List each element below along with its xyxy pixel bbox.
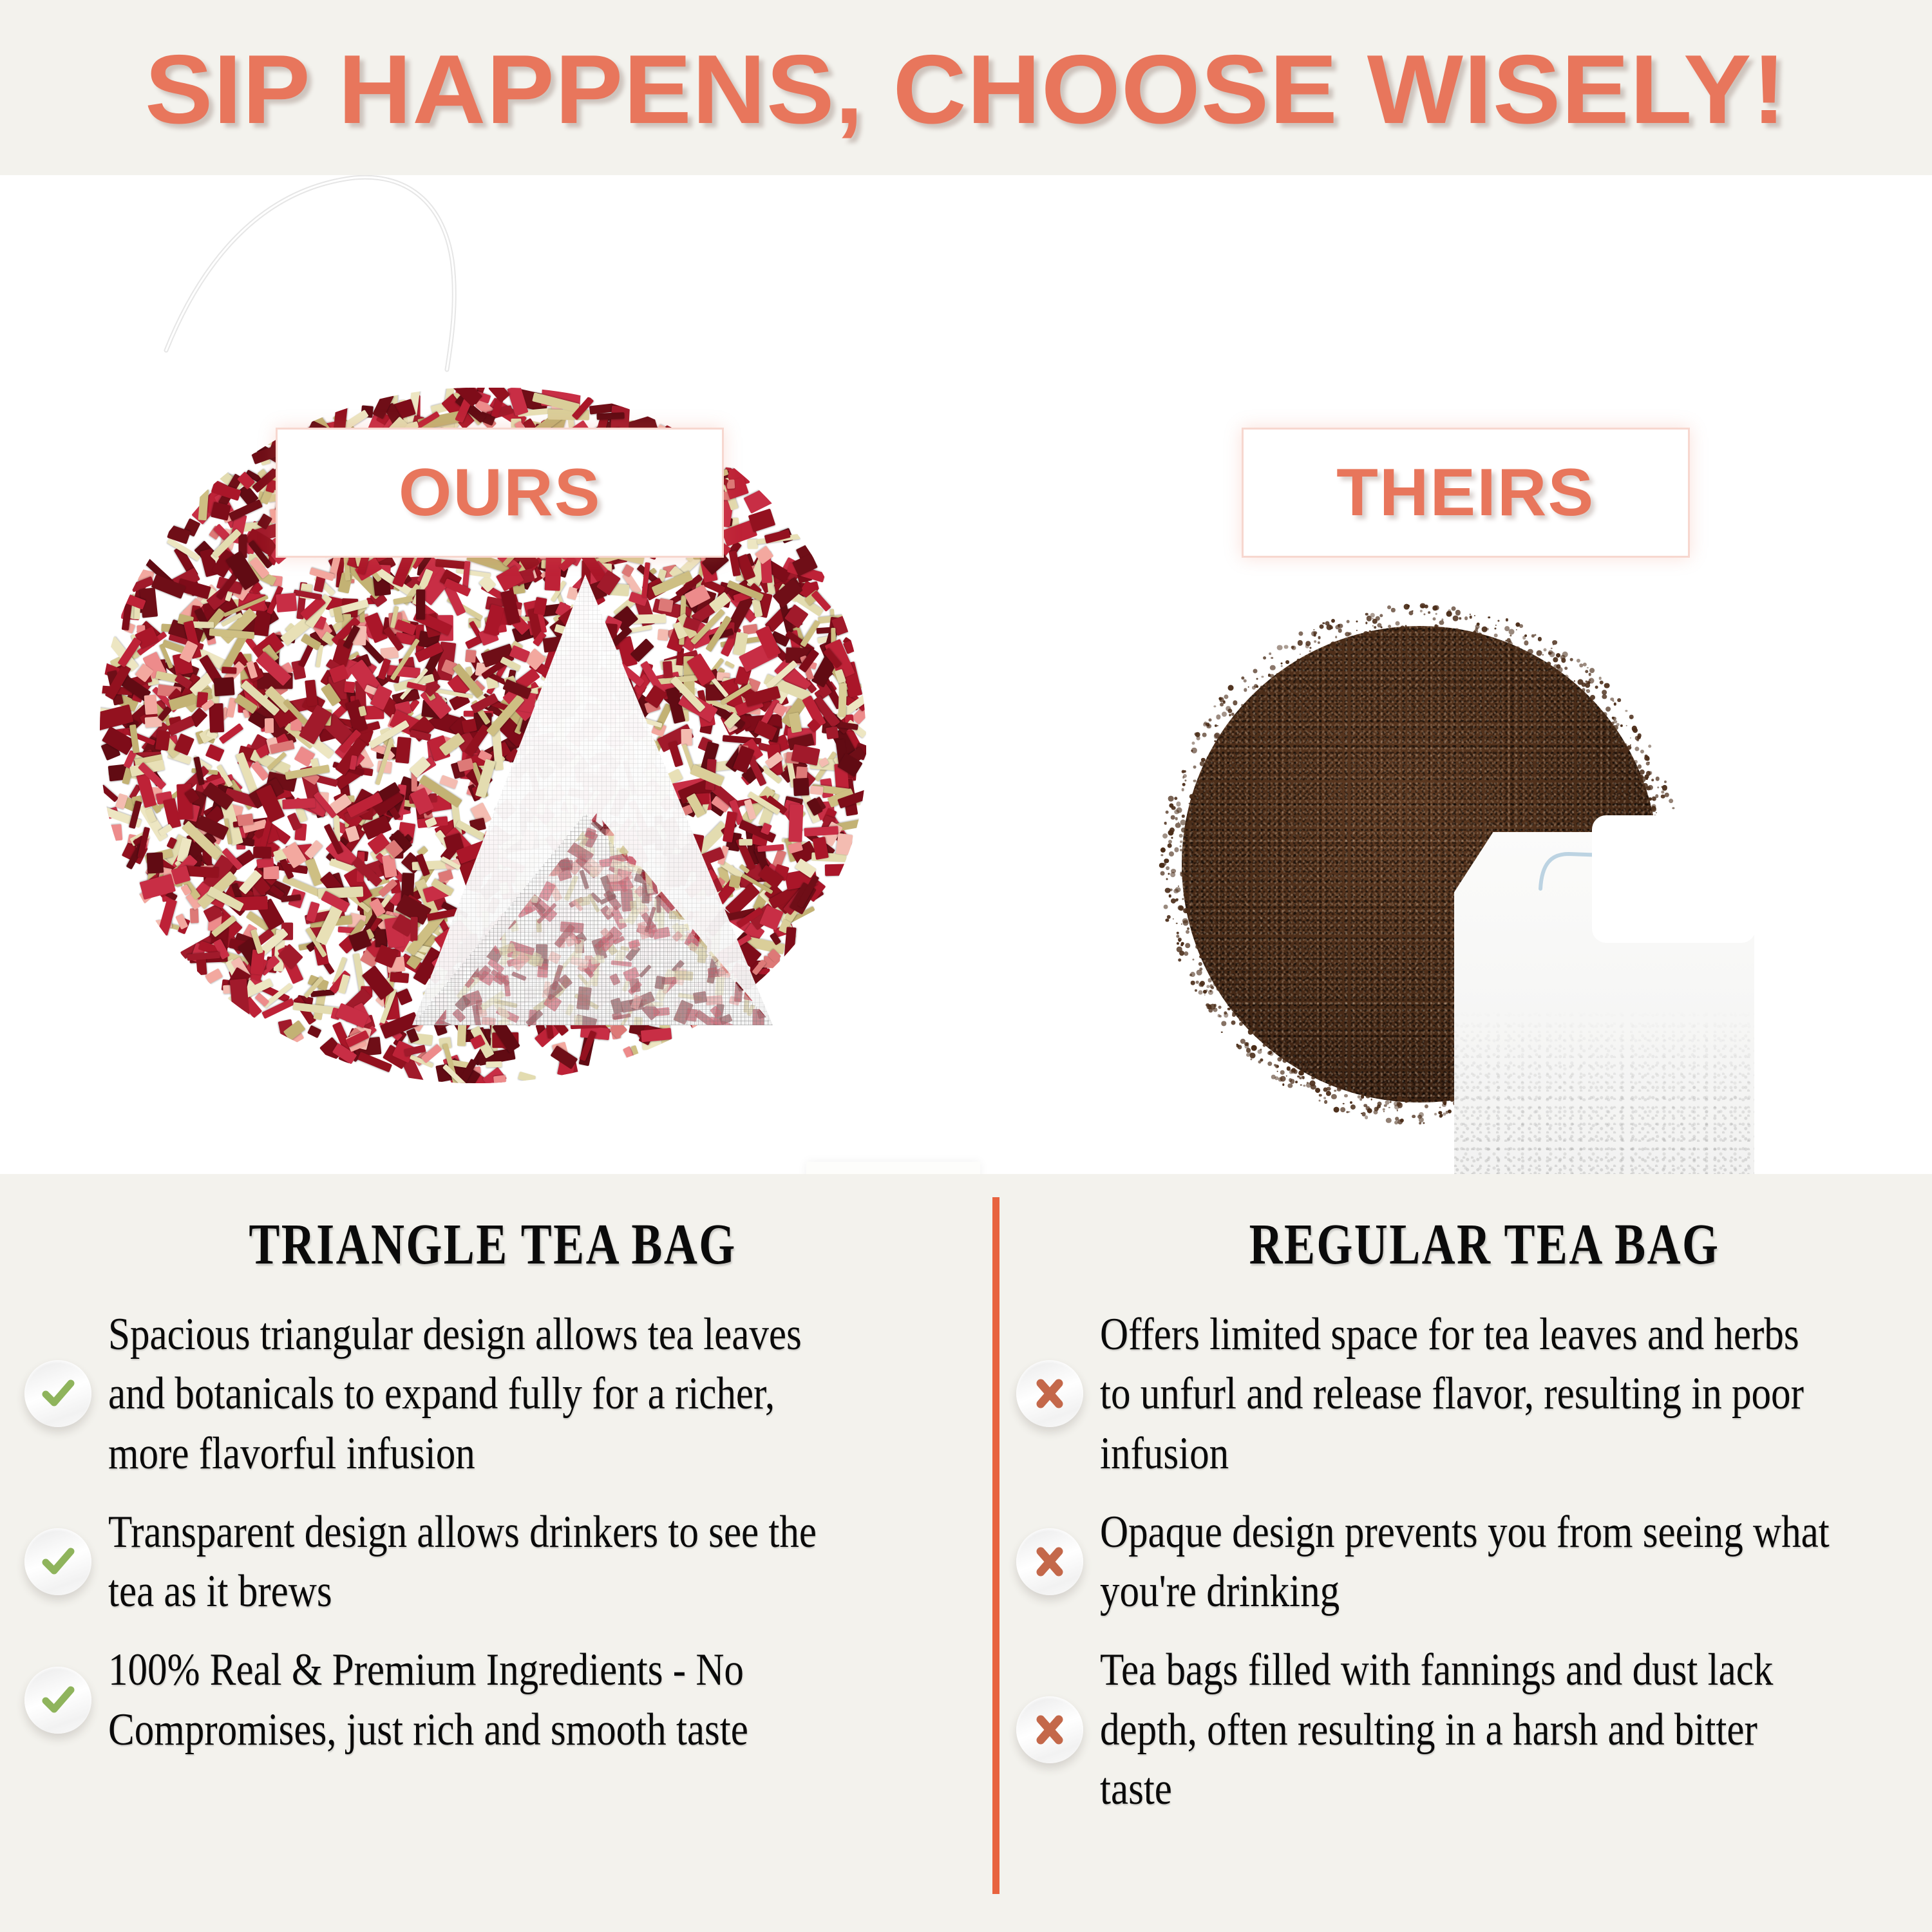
list-item-label: Transparent design allows drinkers to se… xyxy=(108,1502,846,1622)
green-check-icon xyxy=(24,1667,91,1734)
drawback-list-theirs: Offers limited space for tea leaves and … xyxy=(1011,1305,1932,1819)
triangle-tea-bag-image xyxy=(412,574,773,1025)
label-ours-text: OURS xyxy=(399,455,601,531)
list-item-label: Spacious triangular design allows tea le… xyxy=(108,1305,846,1483)
page-title: SIP HAPPENS, CHOOSE WISELY! xyxy=(145,41,1786,138)
list-item: Transparent design allows drinkers to se… xyxy=(19,1502,966,1622)
list-item: Offers limited space for tea leaves and … xyxy=(1011,1305,1932,1483)
blank-tea-bag-tag xyxy=(1592,815,1756,943)
list-item: Tea bags filled with fannings and dust l… xyxy=(1011,1640,1932,1819)
pyramid-bag-mesh-texture xyxy=(412,574,773,1025)
red-cross-icon xyxy=(1016,1360,1083,1427)
column-theirs: REGULAR TEA BAG Offers limited space for… xyxy=(1011,1174,1932,1838)
comparison-details-section: TRIANGLE TEA BAG Spacious triangular des… xyxy=(0,1174,1932,1932)
red-cross-icon xyxy=(1016,1528,1083,1595)
list-item: Spacious triangular design allows tea le… xyxy=(19,1305,966,1483)
label-theirs-text: THEIRS xyxy=(1336,455,1595,531)
tea-bag-string xyxy=(161,175,470,376)
list-item-label: Opaque design prevents you from seeing w… xyxy=(1100,1502,1838,1622)
red-cross-icon xyxy=(1016,1696,1083,1763)
list-item-label: Tea bags filled with fannings and dust l… xyxy=(1100,1640,1838,1819)
list-item: 100% Real & Premium Ingredients - No Com… xyxy=(19,1640,966,1759)
label-box-ours: OURS xyxy=(276,428,724,558)
column-ours: TRIANGLE TEA BAG Spacious triangular des… xyxy=(19,1174,966,1779)
list-item-label: 100% Real & Premium Ingredients - No Com… xyxy=(108,1640,846,1759)
list-item: Opaque design prevents you from seeing w… xyxy=(1011,1502,1932,1622)
benefit-list-ours: Spacious triangular design allows tea le… xyxy=(19,1305,966,1759)
heading-regular-tea-bag: REGULAR TEA BAG xyxy=(1106,1211,1863,1278)
heading-triangle-tea-bag: TRIANGLE TEA BAG xyxy=(114,1211,871,1278)
label-box-theirs: THEIRS xyxy=(1242,428,1690,558)
green-check-icon xyxy=(24,1528,91,1595)
regular-tea-bag-image xyxy=(1454,832,1754,1174)
green-check-icon xyxy=(24,1360,91,1427)
column-divider xyxy=(992,1197,999,1894)
brewix-brand-tag: BREWIX xyxy=(806,1162,980,1174)
list-item-label: Offers limited space for tea leaves and … xyxy=(1100,1305,1838,1483)
header-banner: SIP HAPPENS, CHOOSE WISELY! xyxy=(0,0,1932,175)
product-comparison-images: BREWIX OURS THEIRS xyxy=(0,175,1932,1174)
